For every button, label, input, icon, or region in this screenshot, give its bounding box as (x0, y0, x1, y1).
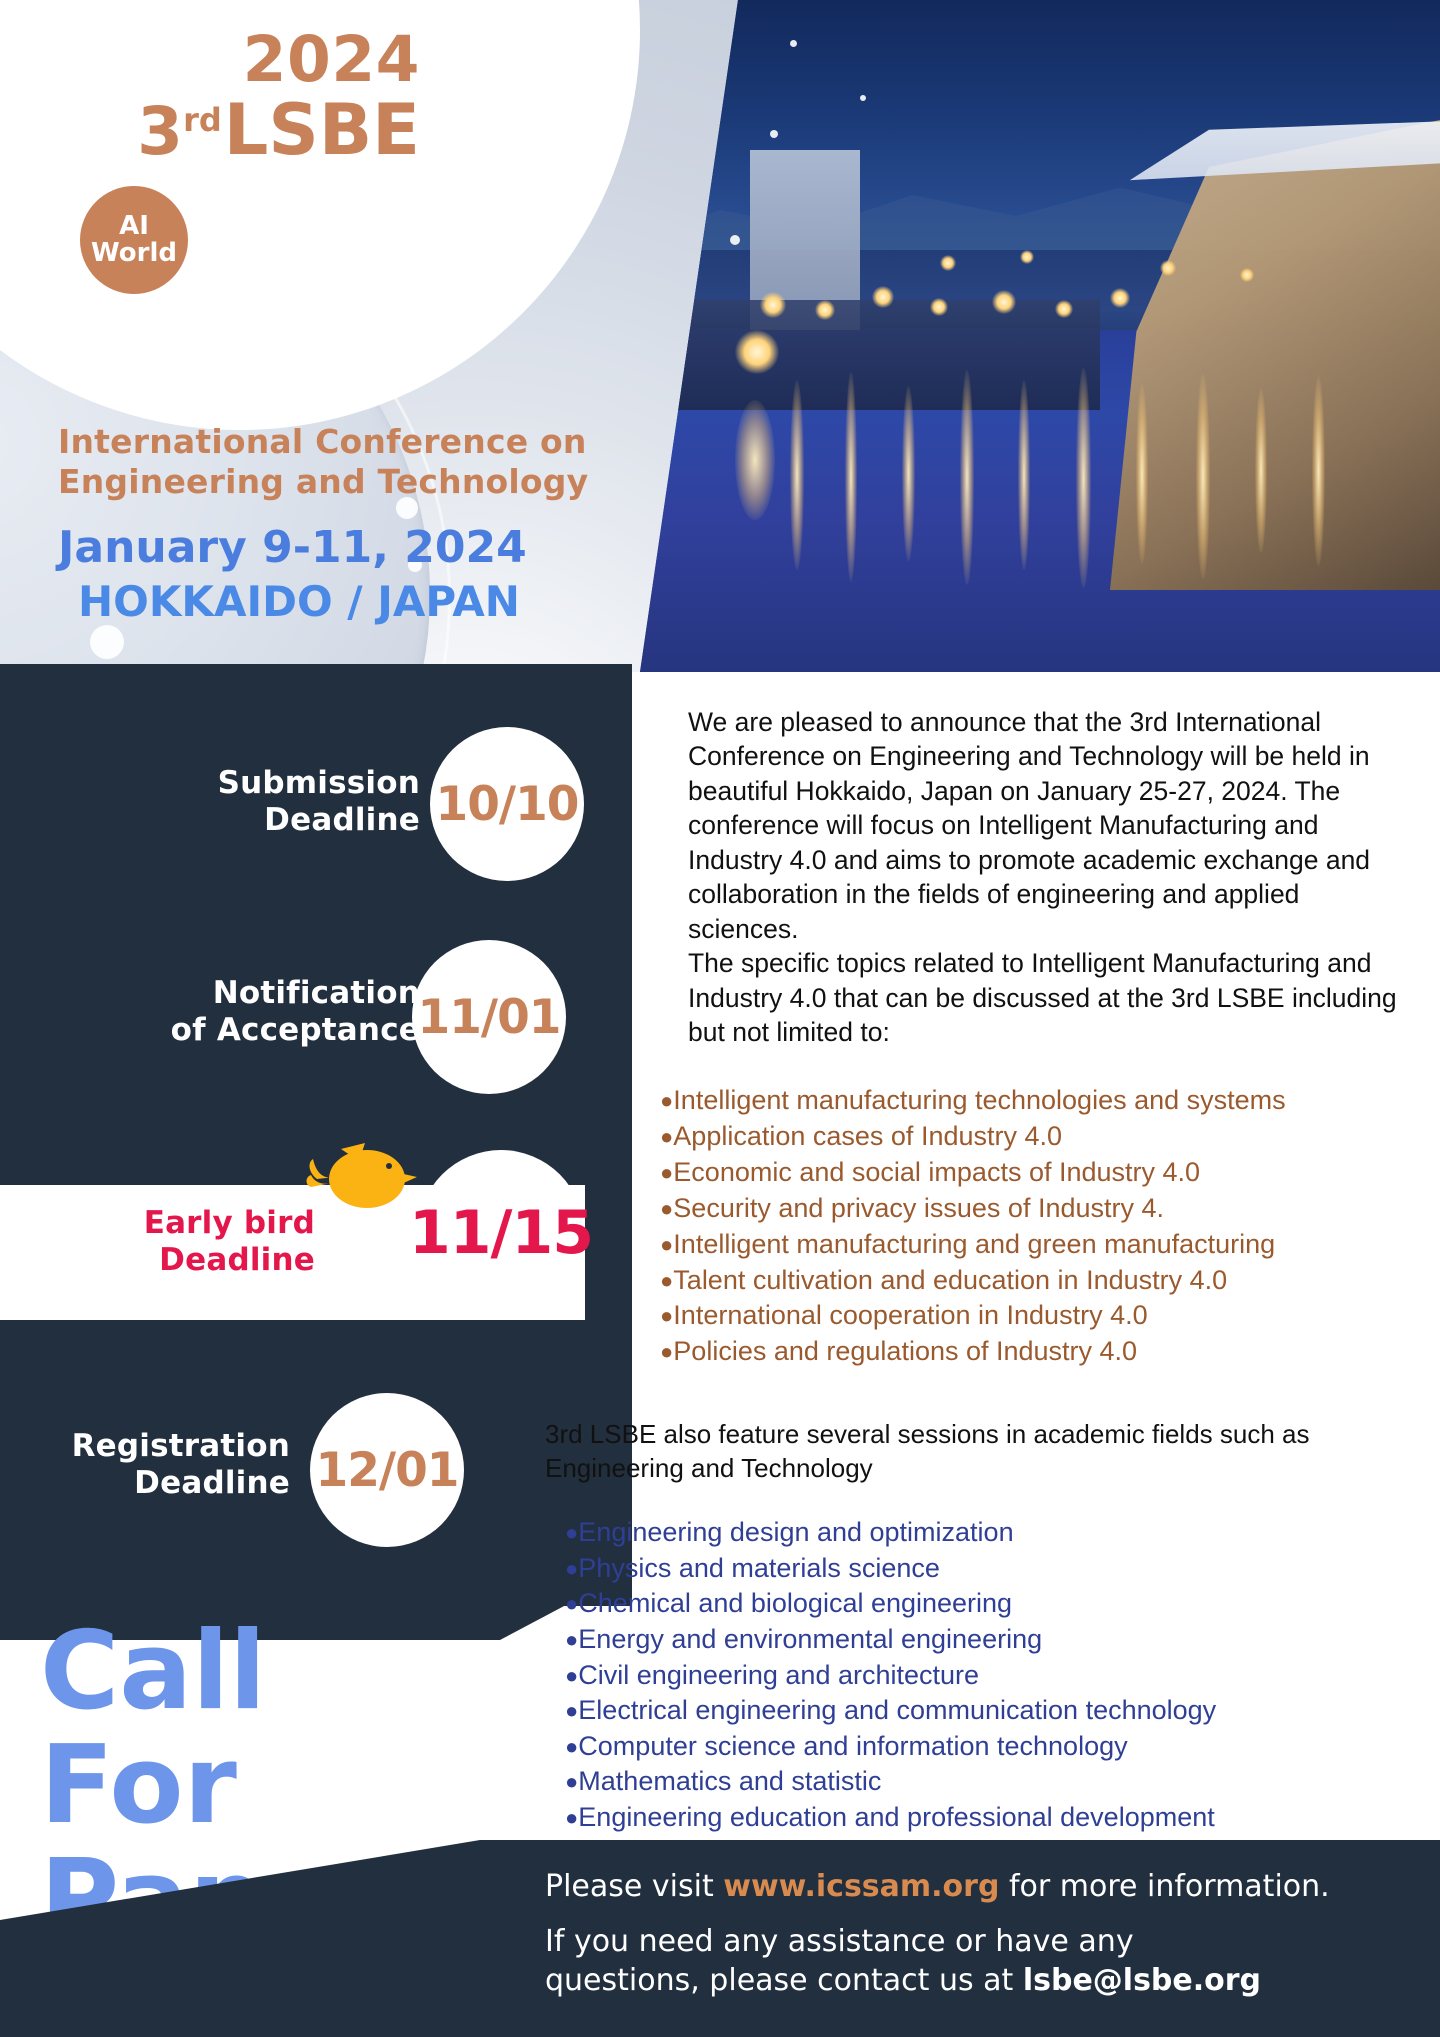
bullet-icon: ● (660, 1232, 673, 1257)
list-item: ●Computer science and information techno… (565, 1729, 1425, 1765)
poster-header-band: 2024 3rdLSBE AI World International Conf… (0, 0, 1440, 672)
field-label: Computer science and information technol… (578, 1731, 1127, 1761)
list-item: ●Mathematics and statistic (565, 1764, 1425, 1800)
footer-contact: Please visit www.icssam.org for more inf… (545, 1867, 1405, 2001)
topic-label: Intelligent manufacturing and green manu… (673, 1229, 1275, 1259)
field-label: Energy and environmental engineering (578, 1624, 1042, 1654)
deadline-label-notification: Notification of Acceptance (40, 975, 420, 1048)
topic-label: Security and privacy issues of Industry … (673, 1193, 1164, 1223)
ai-world-badge-line2: World (91, 240, 177, 267)
topic-label: Talent cultivation and education in Indu… (673, 1265, 1227, 1295)
deadline-label-registration: Registration Deadline (10, 1428, 290, 1501)
cfp-line1: Call (40, 1618, 470, 1726)
field-label: Physics and materials science (578, 1553, 940, 1583)
deadline-label-line1: Registration (10, 1428, 290, 1465)
sessions-note: 3rd LSBE also feature several sessions i… (545, 1418, 1405, 1486)
event-ordinal-suffix: rd (183, 101, 222, 139)
field-label: Engineering education and professional d… (578, 1802, 1214, 1832)
deadline-label-early-bird: Early bird Deadline (10, 1205, 315, 1278)
topic-label: Policies and regulations of Industry 4.0 (673, 1336, 1137, 1366)
list-item: ●Chemical and biological engineering (565, 1586, 1425, 1622)
bullet-icon: ● (565, 1556, 578, 1581)
footer-visit-line: Please visit www.icssam.org for more inf… (545, 1867, 1405, 1908)
photo-lights (640, 0, 1440, 672)
bullet-icon: ● (660, 1124, 673, 1149)
deadline-label-line1: Submission (60, 765, 420, 802)
list-item: ●Talent cultivation and education in Ind… (660, 1263, 1400, 1299)
deadline-date-notification: 11/01 (412, 940, 566, 1094)
ai-world-badge: AI World (80, 186, 188, 294)
list-item: ●Economic and social impacts of Industry… (660, 1155, 1400, 1191)
topic-label: Economic and social impacts of Industry … (673, 1157, 1200, 1187)
bullet-icon: ● (565, 1805, 578, 1830)
bullet-icon: ● (660, 1196, 673, 1221)
event-acronym: 3rdLSBE (0, 95, 420, 165)
event-year: 2024 (0, 28, 420, 91)
conference-poster: 2024 3rdLSBE AI World International Conf… (0, 0, 1440, 2037)
otaru-canal-photo (640, 0, 1440, 672)
topic-label: International cooperation in Industry 4.… (673, 1300, 1147, 1330)
list-item: ●Security and privacy issues of Industry… (660, 1191, 1400, 1227)
list-item: ●Electrical engineering and communicatio… (565, 1693, 1425, 1729)
bullet-icon: ● (565, 1663, 578, 1688)
field-label: Mathematics and statistic (578, 1766, 881, 1796)
field-label: Civil engineering and architecture (578, 1660, 979, 1690)
intro-text: We are pleased to announce that the 3rd … (688, 705, 1398, 1049)
bullet-icon: ● (660, 1160, 673, 1185)
topic-label: Intelligent manufacturing technologies a… (673, 1085, 1285, 1115)
academic-fields-list: ●Engineering design and optimization ●Ph… (565, 1515, 1425, 1836)
deadline-date-registration: 12/01 (310, 1393, 464, 1547)
footer-website-link[interactable]: www.icssam.org (723, 1869, 999, 1904)
conference-title-line2: Engineering and Technology (58, 462, 698, 502)
topics-list: ●Intelligent manufacturing technologies … (660, 1083, 1400, 1370)
bullet-icon: ● (660, 1303, 673, 1328)
list-item: ●Energy and environmental engineering (565, 1622, 1425, 1658)
cfp-line2: For (40, 1732, 470, 1840)
field-label: Engineering design and optimization (578, 1517, 1013, 1547)
bullet-icon: ● (565, 1698, 578, 1723)
deadline-label-line1: Early bird (10, 1205, 315, 1242)
bullet-icon: ● (565, 1520, 578, 1545)
bullet-icon: ● (565, 1769, 578, 1794)
list-item: ●International cooperation in Industry 4… (660, 1298, 1400, 1334)
intro-paragraph-2: The specific topics related to Intellige… (688, 946, 1398, 1049)
deadline-label-line2: Deadline (10, 1242, 315, 1279)
bullet-icon: ● (660, 1339, 673, 1364)
conference-date: January 9-11, 2024 (58, 525, 718, 571)
deadline-label-line2: of Acceptance (40, 1012, 420, 1049)
deadline-label-line2: Deadline (10, 1465, 290, 1502)
footer-assistance-prefix: questions, please contact us at (545, 1963, 1023, 1998)
conference-title-line1: International Conference on (58, 422, 698, 462)
bullet-icon: ● (565, 1627, 578, 1652)
deadline-date-early-bird: 11/15 (418, 1150, 584, 1316)
footer-visit-prefix: Please visit (545, 1869, 723, 1904)
field-label: Chemical and biological engineering (578, 1588, 1012, 1618)
topic-label: Application cases of Industry 4.0 (673, 1121, 1062, 1151)
footer-assistance-line: If you need any assistance or have any q… (545, 1922, 1405, 2001)
list-item: ●Application cases of Industry 4.0 (660, 1119, 1400, 1155)
list-item: ●Intelligent manufacturing technologies … (660, 1083, 1400, 1119)
footer-email-link[interactable]: lsbe@lsbe.org (1023, 1963, 1261, 1998)
list-item: ●Policies and regulations of Industry 4.… (660, 1334, 1400, 1370)
deadline-label-line1: Notification (40, 975, 420, 1012)
bird-icon (305, 1133, 425, 1223)
bullet-icon: ● (565, 1591, 578, 1616)
field-label: Electrical engineering and communication… (578, 1695, 1216, 1725)
list-item: ●Civil engineering and architecture (565, 1658, 1425, 1694)
footer-visit-suffix: for more information. (999, 1869, 1329, 1904)
intro-paragraph-1: We are pleased to announce that the 3rd … (688, 705, 1398, 946)
list-item: ●Intelligent manufacturing and green man… (660, 1227, 1400, 1263)
footer-assistance-line1: If you need any assistance or have any (545, 1922, 1405, 1962)
list-item: ●Engineering education and professional … (565, 1800, 1425, 1836)
event-ordinal: 3 (137, 93, 183, 170)
bullet-icon: ● (660, 1268, 673, 1293)
deadline-label-line2: Deadline (60, 802, 420, 839)
ai-world-badge-line1: AI (119, 213, 149, 240)
list-item: ●Engineering design and optimization (565, 1515, 1425, 1551)
list-item: ●Physics and materials science (565, 1551, 1425, 1587)
conference-location: HOKKAIDO / JAPAN (78, 580, 738, 624)
deadline-label-submission: Submission Deadline (60, 765, 420, 838)
deadline-date-submission: 10/10 (430, 727, 584, 881)
bullet-icon: ● (565, 1734, 578, 1759)
conference-title: International Conference on Engineering … (58, 422, 698, 503)
footer-assistance-line2: questions, please contact us at lsbe@lsb… (545, 1961, 1405, 2001)
bullet-icon: ● (660, 1088, 673, 1113)
event-acronym-text: LSBE (224, 89, 420, 171)
event-kicker: 2024 3rdLSBE (0, 28, 420, 165)
